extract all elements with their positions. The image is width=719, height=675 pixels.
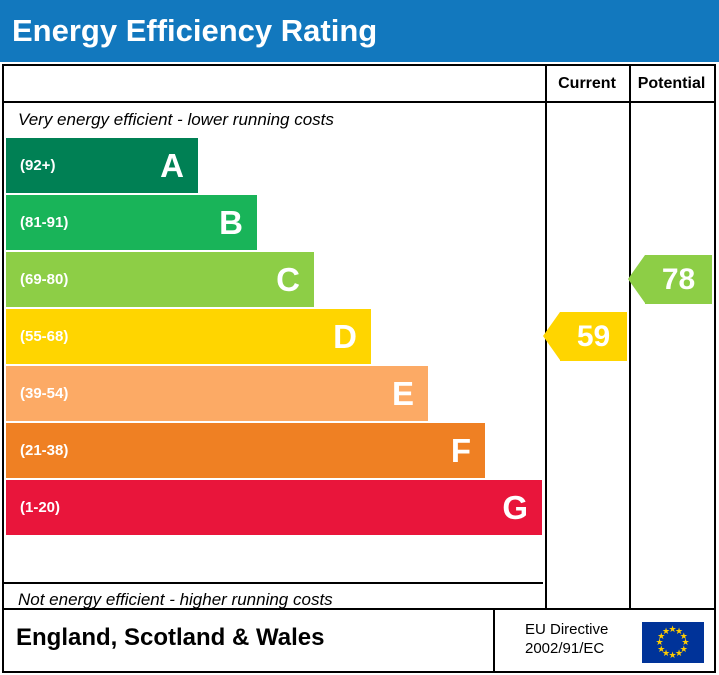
- caption-top: Very energy efficient - lower running co…: [18, 110, 334, 130]
- band-letter-d: D: [333, 320, 361, 353]
- band-bar-c: (69-80)C: [6, 252, 314, 307]
- footer-divider: [493, 610, 495, 671]
- eu-flag-icon: ★★★★★★★★★★★★: [642, 622, 704, 663]
- table-header-row: Current Potential: [4, 66, 714, 103]
- eu-directive-line1: EU Directive: [525, 620, 608, 639]
- band-bar-f: (21-38)F: [6, 423, 485, 478]
- column-header-potential: Potential: [629, 66, 714, 101]
- caption-bottom: Not energy efficient - higher running co…: [18, 590, 333, 610]
- potential-score: 78: [645, 255, 712, 304]
- potential-score-value: 78: [662, 263, 695, 297]
- column-header-current: Current: [545, 66, 629, 101]
- band-letter-e: E: [392, 377, 418, 410]
- band-bar-a: (92+)A: [6, 138, 198, 193]
- band-range-c: (69-80): [20, 271, 68, 288]
- band-bar-b: (81-91)B: [6, 195, 257, 250]
- title-bar: Energy Efficiency Rating: [0, 0, 719, 62]
- band-range-b: (81-91): [20, 214, 68, 231]
- band-letter-g: G: [502, 491, 532, 524]
- eu-star-icon: ★: [662, 627, 670, 636]
- band-letter-c: C: [276, 263, 304, 296]
- band-bar-g: (1-20)G: [6, 480, 542, 535]
- footer-region: England, Scotland & Wales: [16, 624, 324, 652]
- caption-divider: [4, 582, 543, 584]
- eu-directive-line2: 2002/91/EC: [525, 639, 608, 658]
- band-letter-f: F: [451, 434, 475, 467]
- band-letter-b: B: [219, 206, 247, 239]
- epc-chart: Energy Efficiency Rating Current Potenti…: [0, 0, 719, 675]
- current-score: 59: [560, 312, 627, 361]
- eu-directive-text: EU Directive 2002/91/EC: [525, 620, 608, 658]
- page-title: Energy Efficiency Rating: [0, 13, 377, 49]
- footer: England, Scotland & Wales EU Directive 2…: [2, 610, 716, 673]
- column-divider-potential: [629, 66, 631, 608]
- band-letter-a: A: [160, 149, 188, 182]
- band-range-a: (92+): [20, 157, 55, 174]
- band-range-f: (21-38): [20, 442, 68, 459]
- band-range-d: (55-68): [20, 328, 68, 345]
- band-range-e: (39-54): [20, 385, 68, 402]
- band-bar-d: (55-68)D: [6, 309, 371, 364]
- current-score-value: 59: [577, 320, 610, 354]
- band-range-g: (1-20): [20, 499, 60, 516]
- current-score-arrow: [543, 312, 560, 360]
- rating-table: Current Potential Very energy efficient …: [2, 64, 716, 610]
- potential-score-arrow: [628, 255, 645, 303]
- band-bar-e: (39-54)E: [6, 366, 428, 421]
